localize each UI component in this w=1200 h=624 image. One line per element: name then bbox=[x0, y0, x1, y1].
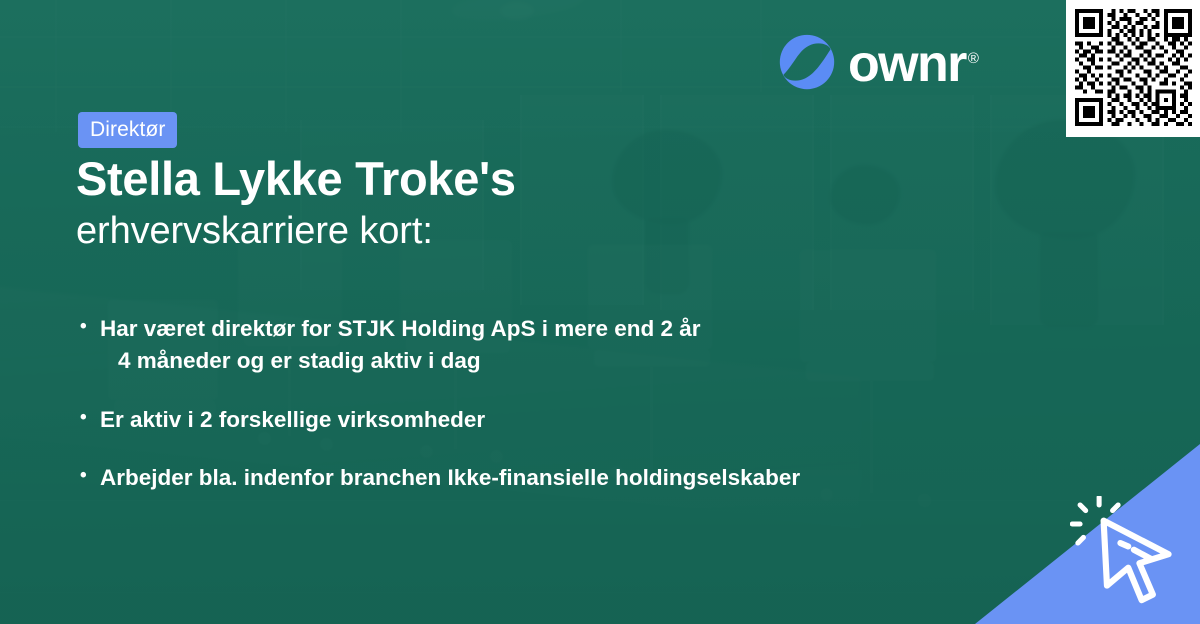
career-card: Direktør Stella Lykke Troke's erhvervska… bbox=[0, 0, 1200, 624]
list-item-line1: Har været direktør for STJK Holding ApS … bbox=[100, 316, 701, 341]
content-layer: Direktør Stella Lykke Troke's erhvervska… bbox=[0, 0, 1200, 624]
list-item-text: Har været direktør for STJK Holding ApS … bbox=[100, 313, 960, 378]
ownr-wordmark: ownr® bbox=[848, 38, 975, 90]
list-item: •Er aktiv i 2 forskellige virksomheder bbox=[80, 404, 980, 436]
bullet-dot: • bbox=[80, 462, 100, 489]
list-item-line1: Arbejder bla. indenfor branchen Ikke-fin… bbox=[100, 465, 800, 490]
registered-trademark-icon: ® bbox=[968, 50, 977, 67]
list-item-text: Er aktiv i 2 forskellige virksomheder bbox=[100, 404, 960, 436]
bullet-list: •Har været direktør for STJK Holding ApS… bbox=[80, 313, 980, 521]
bullet-dot: • bbox=[80, 313, 100, 340]
qr-code[interactable] bbox=[1075, 9, 1192, 126]
list-item: •Har været direktør for STJK Holding ApS… bbox=[80, 313, 980, 378]
page-title: Stella Lykke Troke's bbox=[76, 155, 516, 203]
ownr-wordmark-text: ownr bbox=[848, 35, 966, 93]
qr-code-panel[interactable] bbox=[1066, 0, 1200, 137]
role-badge: Direktør bbox=[78, 112, 177, 148]
list-item-text: Arbejder bla. indenfor branchen Ikke-fin… bbox=[100, 462, 960, 494]
ownr-circle-mark bbox=[778, 33, 836, 91]
list-item-line2: 4 måneder og er stadig aktiv i dag bbox=[100, 345, 960, 377]
click-cursor-icon bbox=[1070, 496, 1182, 608]
ownr-logo: ownr® bbox=[778, 33, 975, 91]
page-subtitle: erhvervskarriere kort: bbox=[76, 212, 433, 252]
corner-accent bbox=[975, 444, 1200, 624]
list-item: •Arbejder bla. indenfor branchen Ikke-fi… bbox=[80, 462, 980, 494]
bullet-dot: • bbox=[80, 404, 100, 431]
list-item-line1: Er aktiv i 2 forskellige virksomheder bbox=[100, 407, 485, 432]
